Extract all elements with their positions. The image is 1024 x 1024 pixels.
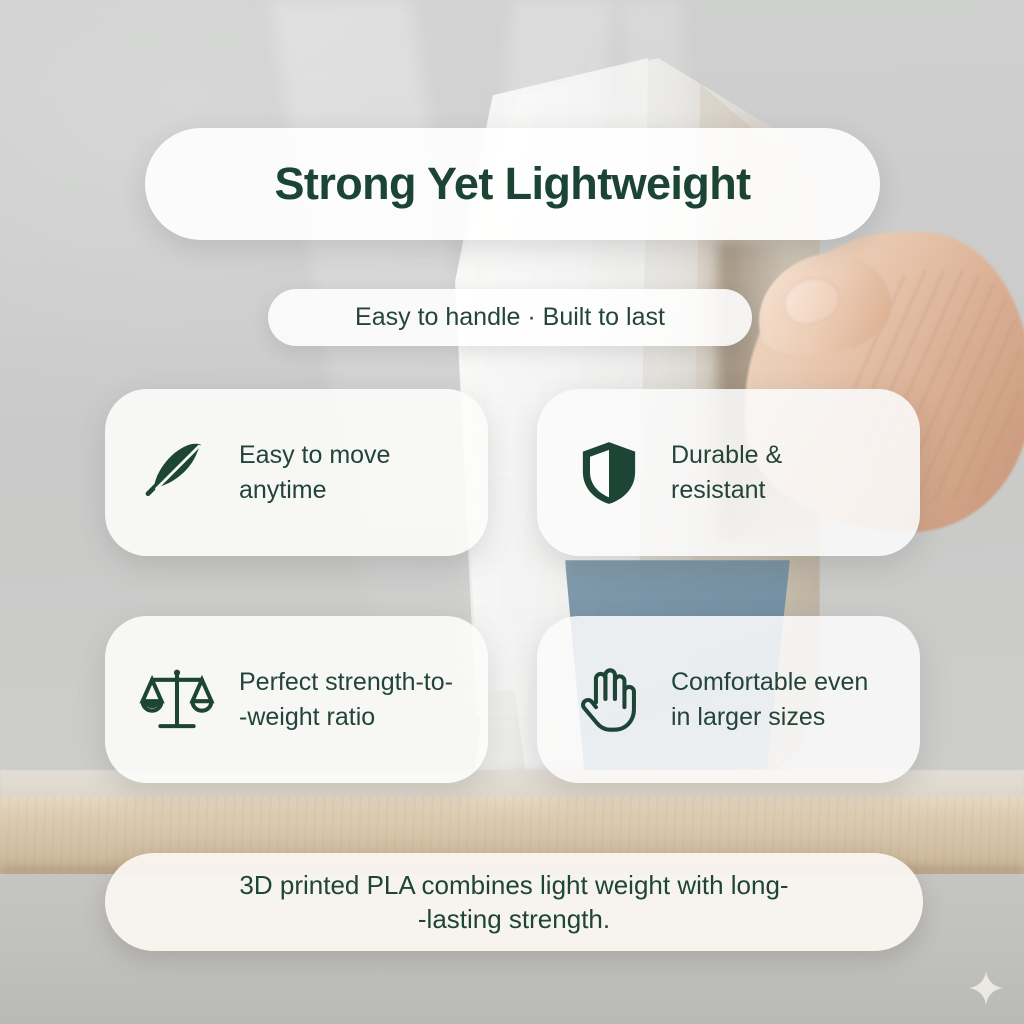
feature-card-easy-to-move[interactable]: Easy to move anytime xyxy=(105,389,488,556)
feature-card-label: Comfortable even in larger sizes xyxy=(671,665,868,734)
feature-card-comfortable[interactable]: Comfortable even in larger sizes xyxy=(537,616,920,783)
summary-line1: 3D printed PLA combines light weight wit… xyxy=(239,870,788,900)
balance-scale-icon xyxy=(139,662,215,738)
summary-line2: -lasting strength. xyxy=(418,904,610,934)
feature-card-label: Perfect strength-to- -weight ratio xyxy=(239,665,453,734)
feature-card-label: Easy to move anytime xyxy=(239,438,390,507)
feature-label-line2: in larger sizes xyxy=(671,703,825,731)
sparkle-icon xyxy=(968,970,1004,1006)
feature-card-strength-to-weight[interactable]: Perfect strength-to- -weight ratio xyxy=(105,616,488,783)
open-hand-icon xyxy=(571,662,647,738)
feature-label-line1: Durable & xyxy=(671,441,782,469)
feature-card-durable[interactable]: Durable & resistant xyxy=(537,389,920,556)
summary-banner: 3D printed PLA combines light weight wit… xyxy=(105,853,923,951)
feature-label-line2: resistant xyxy=(671,476,765,504)
feature-card-label: Durable & resistant xyxy=(671,438,782,507)
shield-icon xyxy=(571,435,647,511)
feature-label-line1: Easy to move xyxy=(239,441,390,469)
feather-icon xyxy=(139,435,215,511)
summary-banner-text: 3D printed PLA combines light weight wit… xyxy=(239,868,788,937)
feature-label-line1: Comfortable even xyxy=(671,668,868,696)
feature-label-line1: Perfect strength-to- xyxy=(239,668,453,696)
feature-label-line2: anytime xyxy=(239,476,327,504)
product-feature-infographic: Strong Yet Lightweight Easy to handle · … xyxy=(0,0,1024,1024)
feature-label-line2: -weight ratio xyxy=(239,703,375,731)
